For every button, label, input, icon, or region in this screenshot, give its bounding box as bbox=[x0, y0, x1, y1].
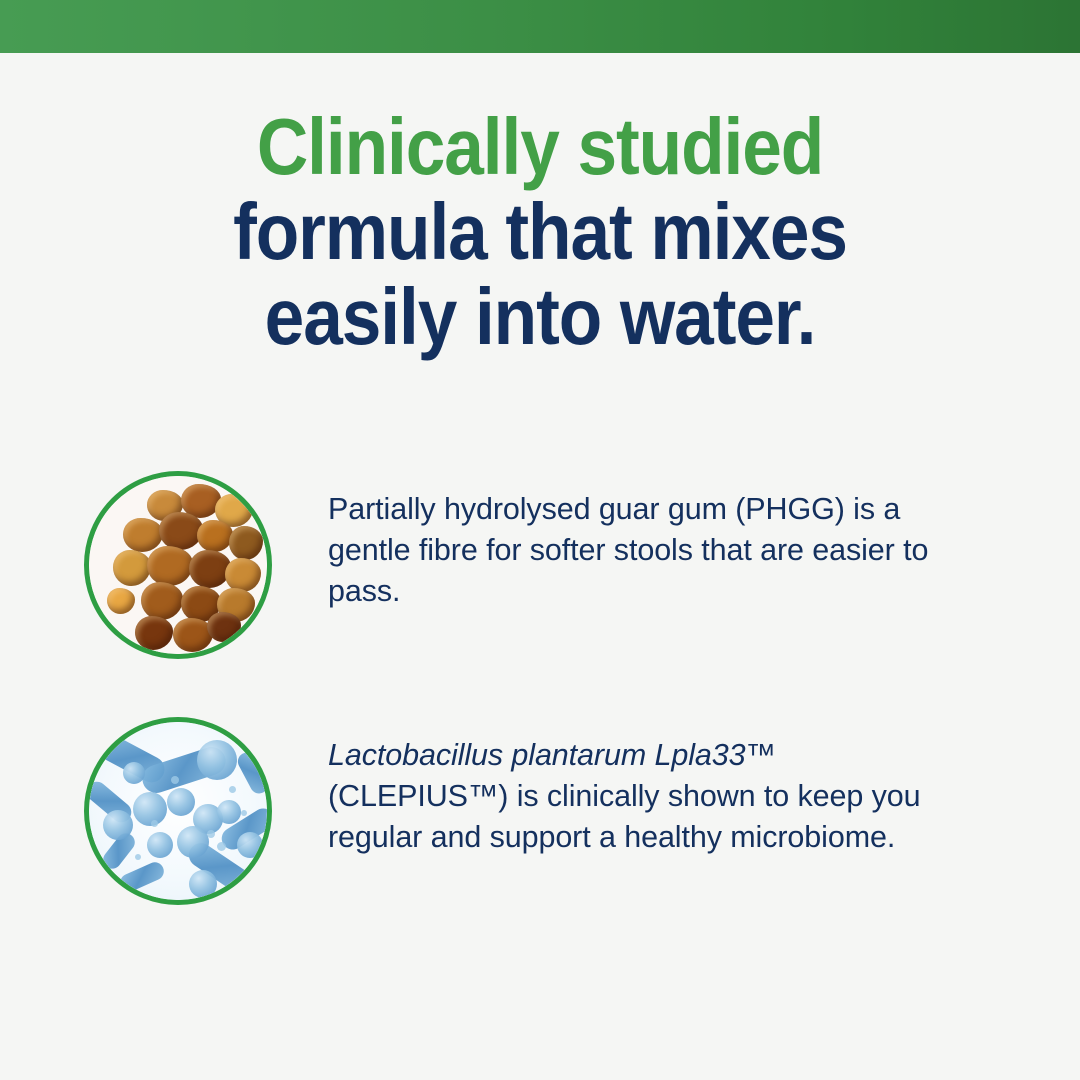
feature-text-body: (CLEPIUS™) is clinically shown to keep y… bbox=[328, 779, 920, 854]
headline-line-1: Clinically studied bbox=[59, 104, 1020, 189]
infographic-page: Clinically studied formula that mixes ea… bbox=[0, 0, 1080, 1080]
page-title: Clinically studied formula that mixes ea… bbox=[0, 104, 1080, 359]
feature-list: Partially hydrolysed guar gum (PHGG) is … bbox=[0, 471, 1080, 905]
microbiome-thumbnail-wrapper bbox=[84, 717, 272, 905]
feature-item-phgg: Partially hydrolysed guar gum (PHGG) is … bbox=[0, 471, 1080, 659]
headline-line-2: formula that mixes bbox=[59, 189, 1020, 274]
feature-text-lactobacillus: Lactobacillus plantarum Lpla33™ (CLEPIUS… bbox=[328, 735, 948, 858]
feature-text-phgg: Partially hydrolysed guar gum (PHGG) is … bbox=[328, 489, 948, 612]
guar-gum-thumbnail-wrapper bbox=[84, 471, 272, 659]
guar-gum-artwork bbox=[89, 476, 267, 654]
feature-item-lactobacillus: Lactobacillus plantarum Lpla33™ (CLEPIUS… bbox=[0, 717, 1080, 905]
guar-gum-resin-photo bbox=[84, 471, 272, 659]
headline-line-3: easily into water. bbox=[59, 274, 1020, 359]
microbiome-bacteria-photo bbox=[84, 717, 272, 905]
feature-text-species-name: Lactobacillus plantarum Lpla33™ bbox=[328, 738, 776, 772]
top-green-bar bbox=[0, 0, 1080, 53]
microbiome-artwork bbox=[89, 722, 267, 900]
